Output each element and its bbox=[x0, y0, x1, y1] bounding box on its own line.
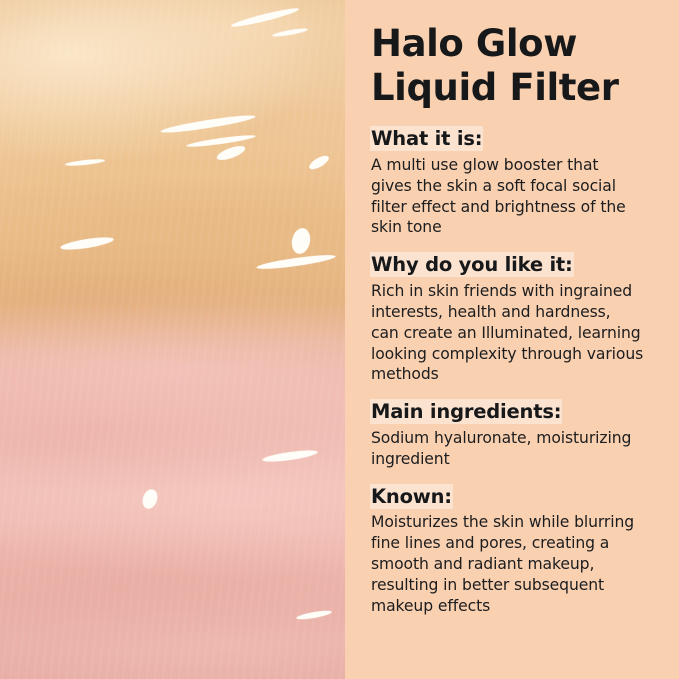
section-why-do-you-like-it: Why do you like it: Rich in skin friends… bbox=[371, 255, 659, 385]
section-body: Sodium hyaluronate, moisturizing ingredi… bbox=[371, 428, 659, 470]
section-heading: Main ingredients: bbox=[371, 400, 561, 423]
product-info-graphic: Halo Glow Liquid Filter What it is: A mu… bbox=[0, 0, 679, 679]
text-panel: Halo Glow Liquid Filter What it is: A mu… bbox=[345, 0, 679, 679]
section-body: Moisturizes the skin while blurring fine… bbox=[371, 512, 659, 616]
section-heading-wrap: Known: bbox=[371, 487, 659, 507]
section-what-it-is: What it is: A multi use glow booster tha… bbox=[371, 129, 659, 238]
section-heading-wrap: Main ingredients: bbox=[371, 402, 659, 422]
section-heading-wrap: Why do you like it: bbox=[371, 255, 659, 275]
section-known: Known: Moisturizes the skin while blurri… bbox=[371, 487, 659, 617]
section-heading: Known: bbox=[371, 485, 452, 508]
section-heading-wrap: What it is: bbox=[371, 129, 659, 149]
section-heading: Why do you like it: bbox=[371, 253, 573, 276]
section-body: A multi use glow booster that gives the … bbox=[371, 155, 659, 239]
section-body: Rich in skin friends with ingrained inte… bbox=[371, 281, 659, 385]
page-title: Halo Glow Liquid Filter bbox=[371, 22, 659, 109]
section-main-ingredients: Main ingredients: Sodium hyaluronate, mo… bbox=[371, 402, 659, 469]
swatch-shimmer-texture bbox=[0, 0, 345, 679]
section-heading: What it is: bbox=[371, 127, 482, 150]
product-swatch-image bbox=[0, 0, 345, 679]
